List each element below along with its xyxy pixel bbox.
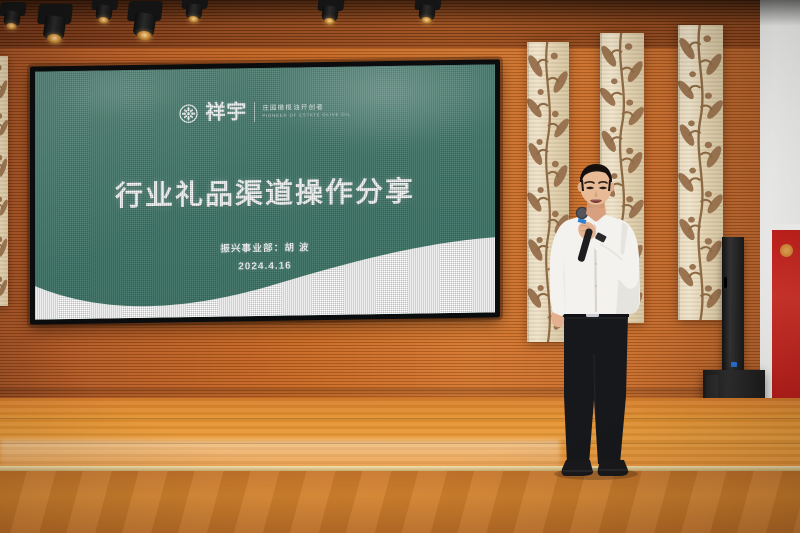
led-screen-bezel: 祥宇 庄园橄榄油开创者 PIONEER OF ESTATE OLIVE OIL …	[30, 59, 500, 324]
screen-glare-secondary	[53, 64, 191, 121]
panel-edge	[678, 25, 680, 320]
speaker-port	[724, 277, 727, 288]
ceiling-shadow	[0, 0, 800, 26]
line-array-speaker	[722, 237, 744, 373]
conference-hall-scene: 祥宇 庄园橄榄油开创者 PIONEER OF ESTATE OLIVE OIL …	[0, 0, 800, 533]
stage-seam-1	[0, 418, 800, 419]
carved-panel-3	[678, 25, 723, 320]
banner-seal-icon	[780, 244, 793, 257]
presenter-shoe-left	[562, 460, 593, 476]
hall-floor	[0, 471, 800, 533]
panel-edge	[527, 42, 529, 342]
speaker-brand-badge	[731, 362, 737, 367]
led-screen[interactable]: 祥宇 庄园橄榄油开创者 PIONEER OF ESTATE OLIVE OIL …	[35, 64, 495, 319]
stage-seam-2	[0, 443, 800, 444]
red-roll-up-banner	[772, 230, 800, 420]
carved-panel-left-edge	[0, 56, 8, 306]
presenter-shoe-right	[598, 460, 629, 476]
screen-glare	[256, 64, 495, 152]
stage-reflection	[0, 440, 560, 468]
presenter[interactable]	[536, 164, 654, 480]
